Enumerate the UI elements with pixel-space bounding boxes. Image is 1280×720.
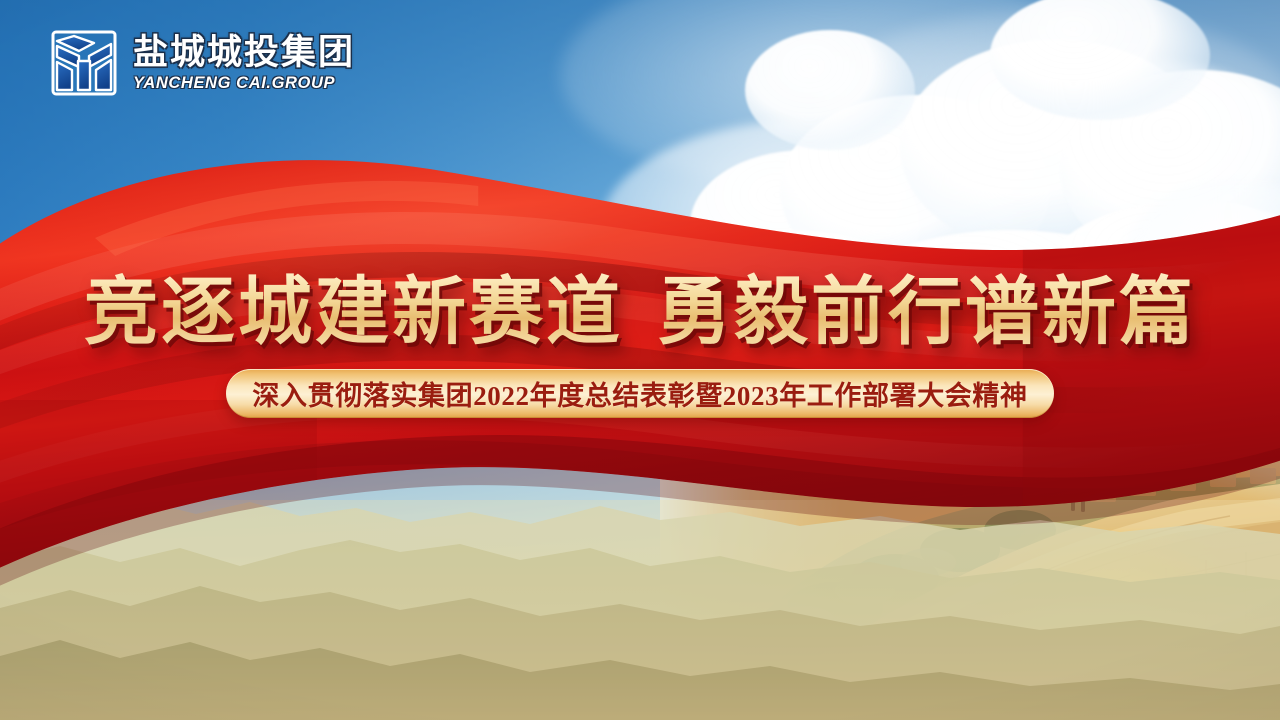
company-logo[interactable]: 盐城城投集团 YANCHENG CAI.GROUP xyxy=(48,27,355,99)
subtitle-container: 深入贯彻落实集团2022年度总结表彰暨2023年工作部署大会精神 xyxy=(0,369,1280,418)
headline: 竞逐城建新赛道勇毅前行谱新篇 xyxy=(0,252,1280,359)
red-ribbon xyxy=(0,0,1280,720)
yancheng-cai-group-cube-y-logo-icon xyxy=(48,27,120,99)
headline-part-1: 竞逐城建新赛道 xyxy=(84,252,623,359)
subtitle-text: 深入贯彻落实集团2022年度总结表彰暨2023年工作部署大会精神 xyxy=(252,374,1027,413)
subtitle-pill: 深入贯彻落实集团2022年度总结表彰暨2023年工作部署大会精神 xyxy=(226,369,1053,418)
logo-english-name: YANCHENG CAI.GROUP xyxy=(133,75,355,92)
logo-chinese-name: 盐城城投集团 xyxy=(133,35,355,70)
headline-part-2: 勇毅前行谱新篇 xyxy=(657,252,1196,359)
banner-canvas: 盐城城投集团 YANCHENG CAI.GROUP 竞逐城建新赛道勇毅前行谱新篇… xyxy=(0,0,1280,720)
logo-wordmark: 盐城城投集团 YANCHENG CAI.GROUP xyxy=(133,35,355,92)
